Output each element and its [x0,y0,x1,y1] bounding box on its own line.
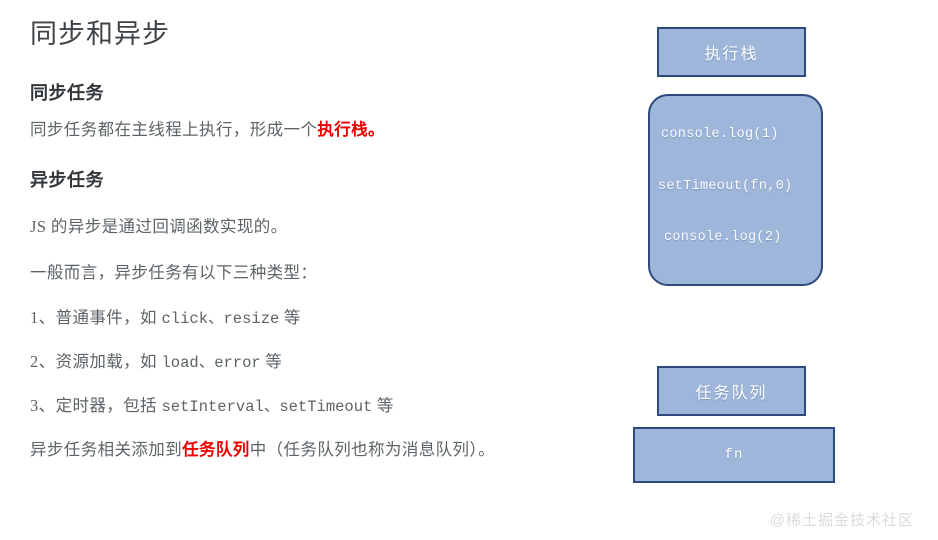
diagram-box-exec-stack: 执行栈 [657,27,806,77]
paragraph-task-queue: 异步任务相关添加到任务队列中（任务队列也称为消息队列）。 [30,437,610,463]
diagram-box-fn-label: fn [725,447,744,463]
diagram-box-task-queue-label: 任务队列 [695,379,767,403]
slide-canvas: 同步和异步 同步任务 同步任务都在主线程上执行，形成一个执行栈。 异步任务 JS… [0,0,938,540]
stack-code-line: setTimeout(fn,0) [650,180,821,194]
section-heading-sync: 同步任务 [30,82,610,105]
diagram-column: 执行栈 console.log(1) setTimeout(fn,0) cons… [600,0,938,540]
list-item: 1、普通事件，如 click、resize 等 [30,305,610,331]
list-item-index: 1、 [30,308,56,327]
list-item-text-after: 等 [372,396,393,415]
list-item-text-before: 普通事件，如 [56,308,162,327]
highlight-exec-stack: 执行栈。 [317,120,385,139]
paragraph-task-queue-after: 中（任务队列也称为消息队列）。 [250,440,495,459]
list-item-text-after: 等 [279,308,300,327]
watermark: @稀土掘金技术社区 [770,509,914,530]
list-item: 2、资源加载，如 load、error 等 [30,349,610,375]
stack-code-line: console.log(1) [650,128,821,142]
diagram-box-fn: fn [633,427,835,483]
article-column: 同步和异步 同步任务 同步任务都在主线程上执行，形成一个执行栈。 异步任务 JS… [30,18,610,483]
paragraph-js-async: JS 的异步是通过回调函数实现的。 [30,214,610,240]
stack-code-line: console.log(2) [650,231,821,245]
paragraph-sync-task-text: 同步任务都在主线程上执行，形成一个 [30,120,317,139]
section-heading-async: 异步任务 [30,169,610,192]
list-item-code: load、error [162,354,261,372]
list-item: 3、定时器，包括 setInterval、setTimeout 等 [30,393,610,419]
diagram-box-task-queue: 任务队列 [657,366,806,416]
paragraph-task-queue-before: 异步任务相关添加到 [30,440,182,459]
paragraph-sync-task: 同步任务都在主线程上执行，形成一个执行栈。 [30,117,610,143]
list-item-code: click、resize [162,310,280,328]
highlight-task-queue: 任务队列 [182,440,250,459]
diagram-box-exec-stack-label: 执行栈 [704,40,758,64]
list-item-text-before: 资源加载，如 [56,352,162,371]
page-title: 同步和异步 [30,18,610,52]
list-item-index: 2、 [30,352,56,371]
diagram-box-stack-body: console.log(1) setTimeout(fn,0) console.… [648,94,823,286]
list-item-index: 3、 [30,396,56,415]
list-item-code: setInterval、setTimeout [162,398,373,416]
list-item-text-after: 等 [261,352,282,371]
paragraph-types-intro: 一般而言，异步任务有以下三种类型： [30,260,610,286]
list-item-text-before: 定时器，包括 [56,396,162,415]
